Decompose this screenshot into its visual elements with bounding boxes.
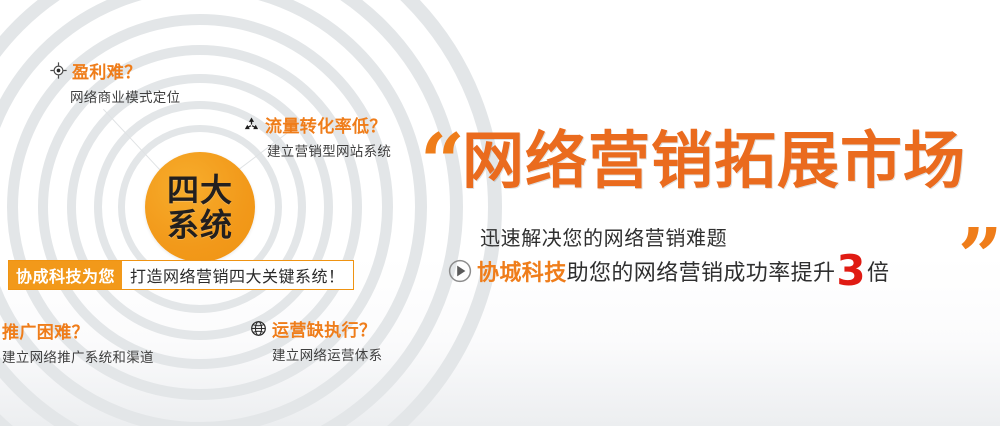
problem-node-convert-title: 流量转化率低？ <box>265 112 387 137</box>
promo-banner: 四大 系统 盈利难？ 网络商业模式定位 流量转化率低？ <box>0 0 1000 426</box>
problem-node-promote-head: 推广困难？ <box>2 318 154 343</box>
problem-node-convert-head: 流量转化率低？ <box>243 112 391 137</box>
core-line-2: 系统 <box>167 209 233 241</box>
recycle-icon <box>243 116 260 133</box>
problem-node-profit-title: 盈利难？ <box>72 58 142 83</box>
claim-bar: 协成科技为您 打造网络营销四大关键系统！ <box>8 260 354 290</box>
play-circle-icon[interactable] <box>448 259 472 283</box>
hero-block: “ 网络营销拓展市场 „ 迅速解决您的网络营销难题 协城科技 助您的网络营销成功… <box>418 128 1000 288</box>
subheading-number: 3 <box>836 254 866 288</box>
page-title: 网络营销拓展市场 <box>462 130 966 192</box>
subheading-suffix: 倍 <box>867 255 889 287</box>
problem-node-promote[interactable]: 推广困难？ 建立网络推广系统和渠道 <box>2 318 154 366</box>
core-circle: 四大 系统 <box>145 152 255 262</box>
core-line-1: 四大 <box>167 174 233 206</box>
subheading-brand: 协城科技 <box>477 255 567 287</box>
problem-node-convert-sub: 建立营销型网站系统 <box>267 140 391 160</box>
problem-node-operate-head: 运营缺执行？ <box>250 316 382 341</box>
problem-node-operate-sub: 建立网络运营体系 <box>272 344 382 364</box>
problem-node-convert[interactable]: 流量转化率低？ 建立营销型网站系统 <box>243 112 391 160</box>
headline-row: “ 网络营销拓展市场 „ <box>418 128 1000 220</box>
quote-open-icon: “ <box>420 124 465 202</box>
subheading-line-2: 协城科技 助您的网络营销成功率提升 3 倍 <box>448 254 1000 288</box>
problem-node-promote-title: 推广困难？ <box>2 318 89 343</box>
problem-node-profit-head: 盈利难？ <box>50 58 180 83</box>
subheading-middle: 助您的网络营销成功率提升 <box>567 255 836 287</box>
quote-close-icon: „ <box>959 174 1000 252</box>
problem-node-operate-title: 运营缺执行？ <box>272 316 376 341</box>
subheading-line-1: 迅速解决您的网络营销难题 <box>480 222 1000 251</box>
claim-bar-brand: 协成科技为您 <box>9 261 122 289</box>
claim-bar-message: 打造网络营销四大关键系统！ <box>122 261 353 289</box>
crosshair-target-icon <box>50 62 67 79</box>
problem-node-profit[interactable]: 盈利难？ 网络商业模式定位 <box>50 58 180 106</box>
problem-node-promote-sub: 建立网络推广系统和渠道 <box>2 346 154 366</box>
problem-node-profit-sub: 网络商业模式定位 <box>70 86 180 106</box>
problem-node-operate[interactable]: 运营缺执行？ 建立网络运营体系 <box>250 316 382 364</box>
globe-icon <box>250 320 267 337</box>
